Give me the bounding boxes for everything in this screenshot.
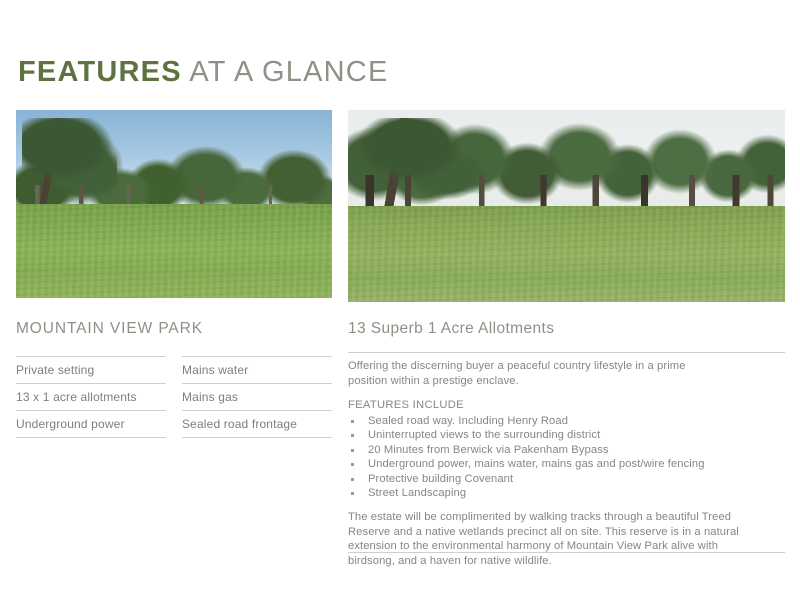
bullet-item: Street Landscaping [348, 486, 785, 501]
feature-item: Private setting [16, 356, 166, 383]
right-column-heading: 13 Superb 1 Acre Allotments [348, 320, 554, 338]
bullet-square-icon [351, 463, 354, 466]
page-title-strong: FEATURES [18, 56, 182, 88]
divider-top [348, 352, 785, 353]
page-title: FEATURES AT A GLANCE [18, 58, 389, 87]
features-bullet-list: Sealed road way. Including Henry Road Un… [348, 414, 785, 502]
intro-paragraph: Offering the discerning buyer a peaceful… [348, 359, 693, 388]
feature-item: Mains water [182, 356, 332, 383]
bullet-item: Underground power, mains water, mains ga… [348, 457, 785, 472]
feature-item: Mains gas [182, 383, 332, 410]
feature-list-primary: Private setting 13 x 1 acre allotments U… [16, 356, 166, 438]
bullet-item: Protective building Covenant [348, 472, 785, 487]
feature-item: Sealed road frontage [182, 410, 332, 438]
feature-item: 13 x 1 acre allotments [16, 383, 166, 410]
bullet-text: Sealed road way. Including Henry Road [368, 415, 568, 427]
bullet-square-icon [351, 449, 354, 452]
grass-region [16, 204, 332, 298]
bullet-text: 20 Minutes from Berwick via Pakenham Byp… [368, 444, 609, 456]
bullet-text: Protective building Covenant [368, 473, 513, 485]
feature-item: Underground power [16, 410, 166, 438]
bullet-item: Sealed road way. Including Henry Road [348, 414, 785, 429]
bullet-item: 20 Minutes from Berwick via Pakenham Byp… [348, 443, 785, 458]
bullet-item: Uninterrupted views to the surrounding d… [348, 428, 785, 443]
grass-region [348, 206, 785, 302]
bullet-square-icon [351, 420, 354, 423]
bullet-text: Uninterrupted views to the surrounding d… [368, 429, 600, 441]
feature-list-secondary: Mains water Mains gas Sealed road fronta… [182, 356, 332, 438]
divider-bottom [348, 552, 785, 553]
bullet-square-icon [351, 478, 354, 481]
right-column-body: Offering the discerning buyer a peaceful… [348, 359, 785, 568]
photo-right [348, 110, 785, 302]
closing-paragraph: The estate will be complimented by walki… [348, 510, 768, 568]
photo-left [16, 110, 332, 298]
bullet-square-icon [351, 492, 354, 495]
brochure-page: FEATURES AT A GLANCE MOUNTAIN VIEW PARK … [0, 0, 800, 600]
bullet-text: Underground power, mains water, mains ga… [368, 458, 705, 470]
page-title-light: AT A GLANCE [182, 56, 389, 88]
features-include-label: FEATURES INCLUDE [348, 398, 785, 413]
bullet-square-icon [351, 434, 354, 437]
bullet-text: Street Landscaping [368, 487, 466, 499]
left-column-heading: MOUNTAIN VIEW PARK [16, 320, 203, 338]
